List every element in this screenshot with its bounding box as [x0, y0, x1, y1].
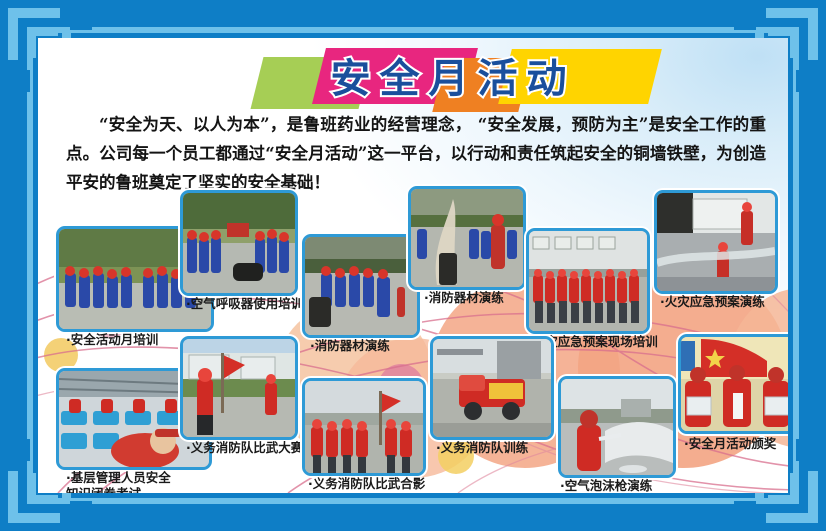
frame-line-bottom [33, 493, 793, 498]
photo-p10-image [433, 339, 551, 437]
photo-p2-image [183, 193, 295, 293]
photo-p6 [654, 190, 778, 294]
photo-p11-image [561, 379, 673, 475]
intro-paragraph: “安全为天、以人为本”，是鲁班药业的经营理念， “安全发展，预防为主”是安全工作… [66, 110, 766, 197]
photo-p11 [558, 376, 676, 478]
photo-p8-image [183, 339, 295, 437]
photo-p5-image [529, 231, 647, 331]
photo-p9-caption: ·义务消防队比武合影 [308, 476, 498, 492]
photo-p7-caption: ·基层管理人员安全 知识闭卷考试 [66, 470, 236, 493]
frame-band-top [0, 0, 826, 27]
safety-month-poster: 安全月活动 “安全为天、以人为本”，是鲁班药业的经营理念， “安全发展，预防为主… [0, 0, 826, 531]
photo-p10 [430, 336, 554, 440]
photo-p6-caption: ·火灾应急预案演练 [660, 294, 788, 310]
photo-p4-image [411, 189, 523, 287]
page-title: 安全月活动 [243, 53, 663, 105]
frame-stripe-bottom [27, 498, 799, 504]
photo-p11-caption: ·空气泡沫枪演练 [560, 478, 730, 493]
photo-p6-image [657, 193, 775, 291]
photo-p12-image [681, 337, 788, 431]
photo-p3 [302, 234, 420, 338]
photo-p2 [180, 190, 298, 296]
frame-line-right [788, 33, 793, 498]
photo-p12 [678, 334, 788, 434]
photo-p9-image [305, 381, 423, 473]
frame-stripe-right [793, 27, 799, 504]
poster-title-banner: 安全月活动 [243, 45, 663, 117]
poster-canvas: 安全月活动 “安全为天、以人为本”，是鲁班药业的经营理念， “安全发展，预防为主… [38, 38, 788, 493]
photo-p12-caption: ·安全月活动颁奖 [684, 436, 788, 452]
photo-p4 [408, 186, 526, 290]
photo-p5 [526, 228, 650, 334]
photo-p3-image [305, 237, 417, 335]
photo-p9 [302, 378, 426, 476]
frame-band-bottom [0, 504, 826, 531]
photo-p8 [180, 336, 298, 440]
